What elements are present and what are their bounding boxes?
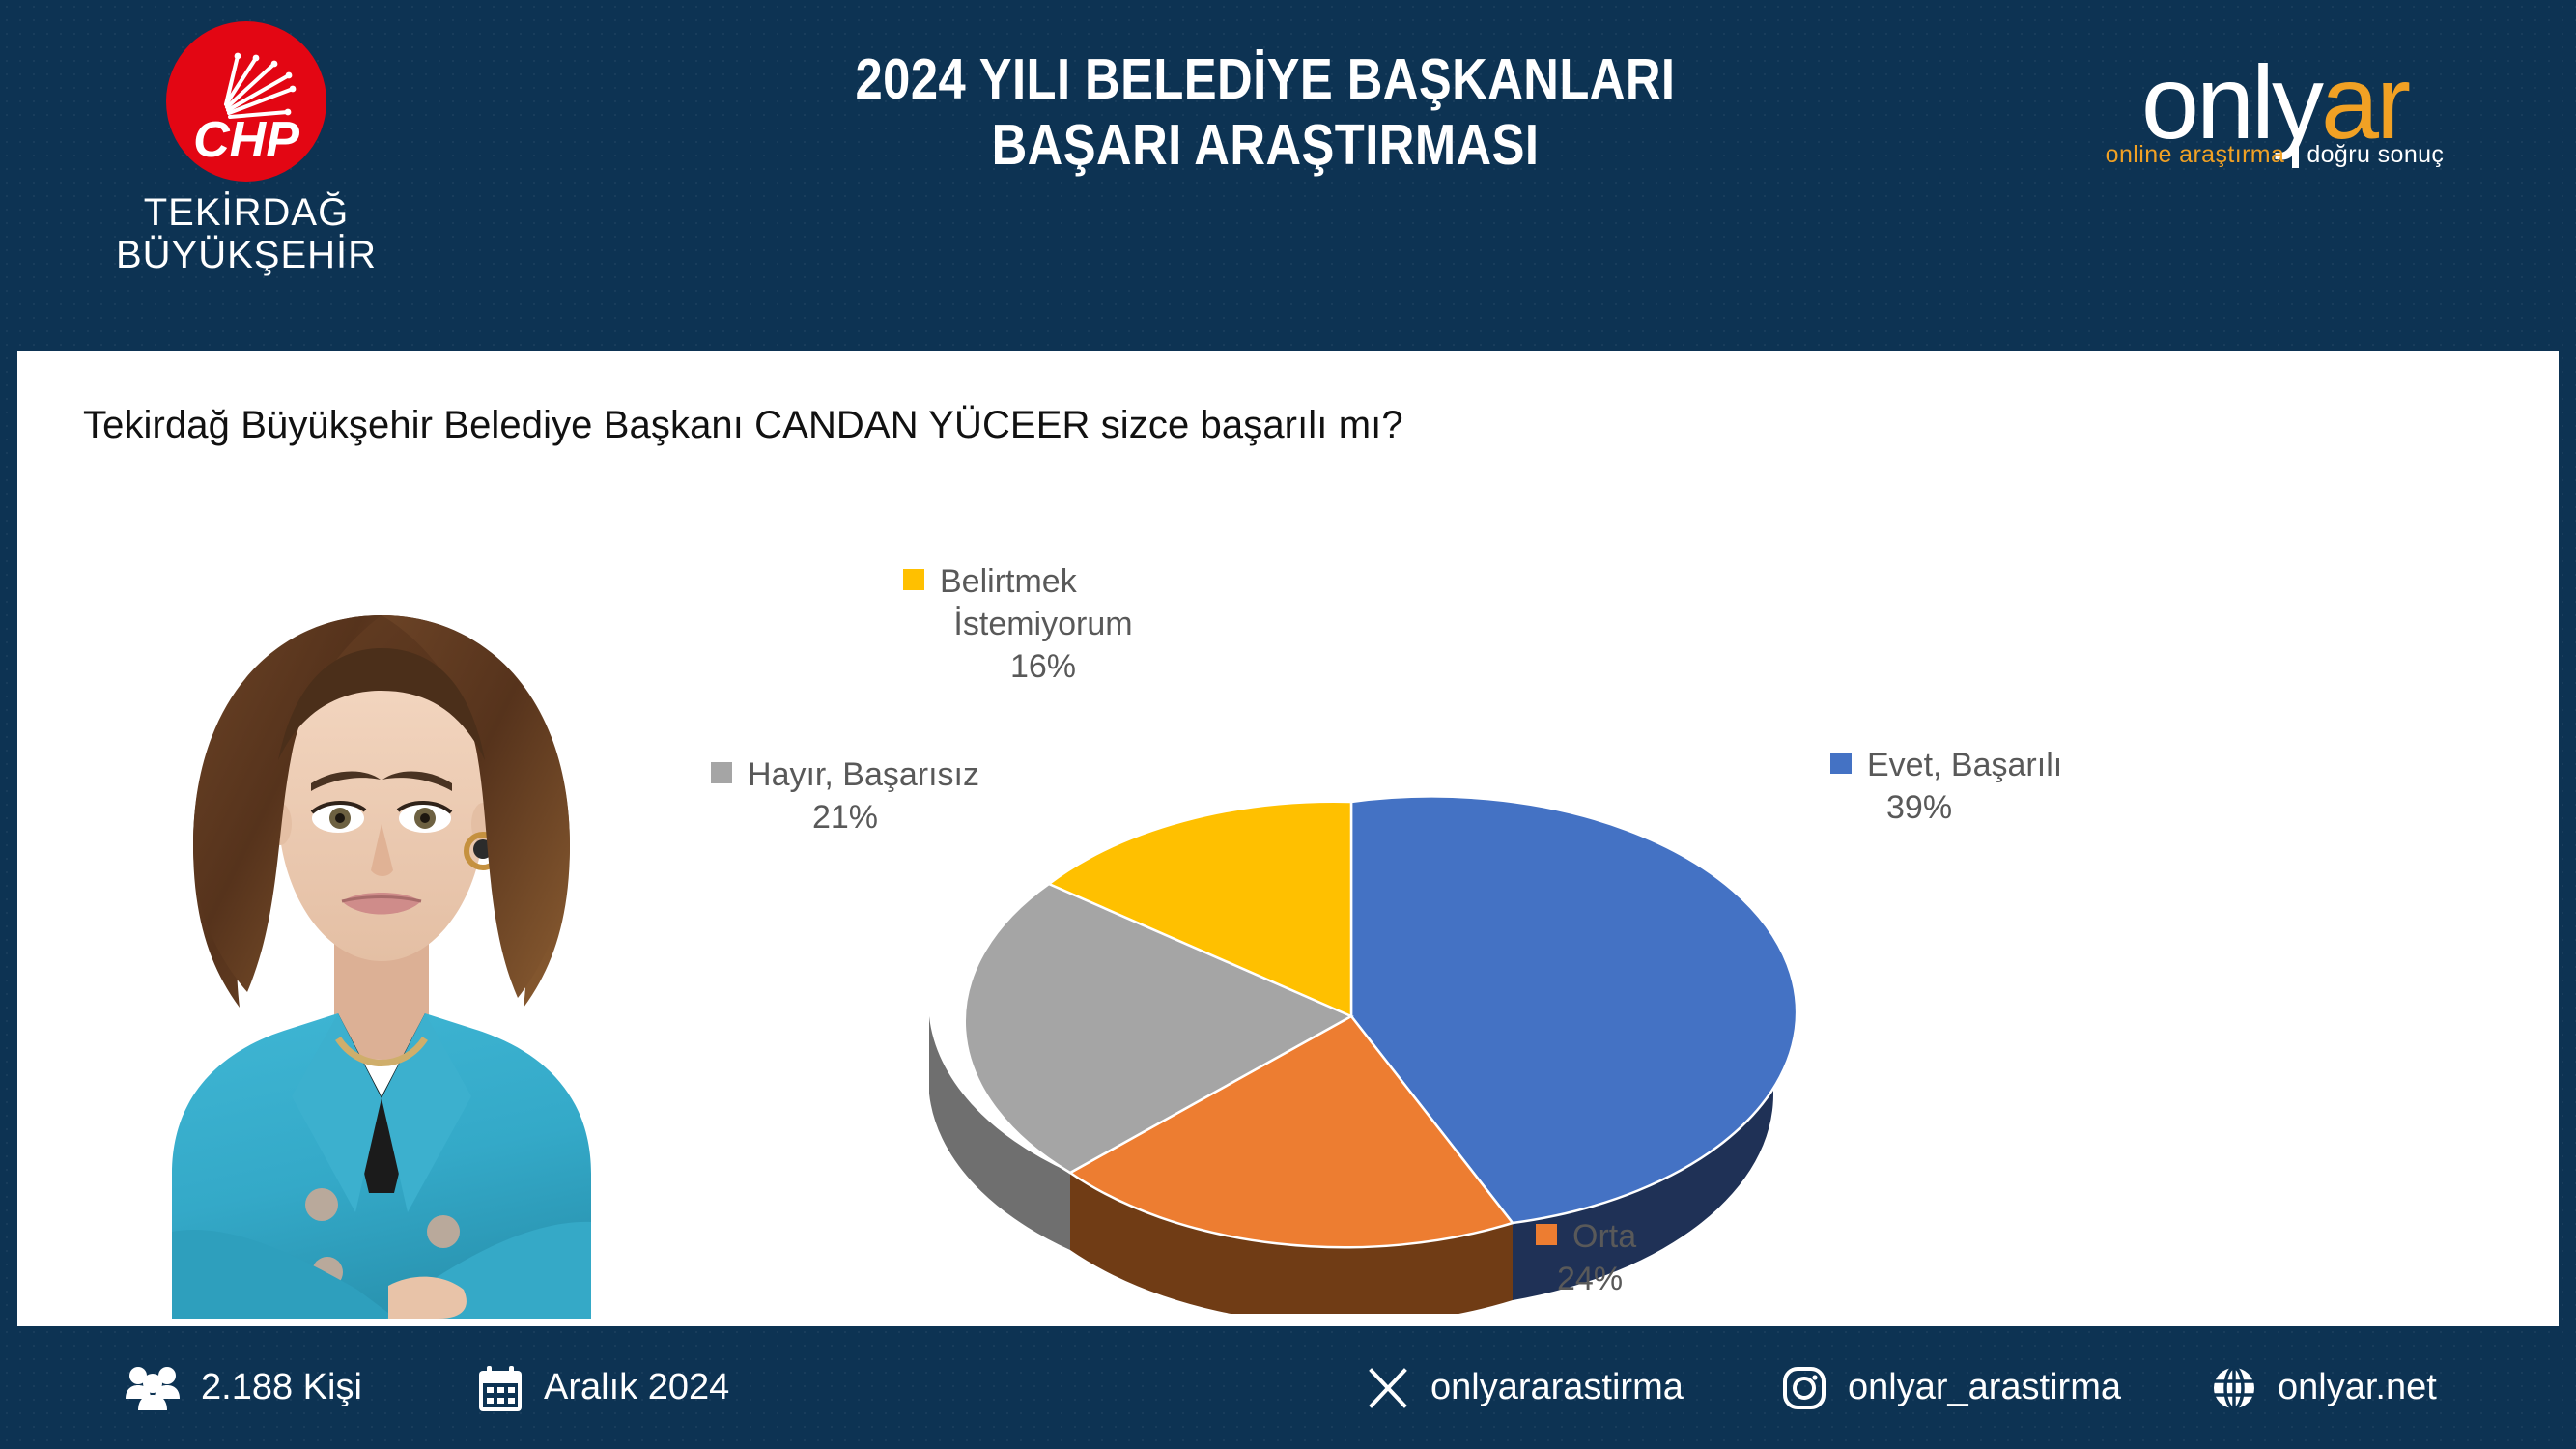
pie-label-belirtmek-line2: İstemiyorum (884, 603, 1203, 645)
footer-date-text: Aralık 2024 (544, 1367, 729, 1408)
survey-question: Tekirdağ Büyükşehir Belediye Başkanı CAN… (83, 404, 1403, 447)
footer-sample-text: 2.188 Kişi (201, 1367, 362, 1408)
footer-date: Aralık 2024 (478, 1364, 729, 1412)
title-line-1: 2024 YILI BELEDİYE BAŞKANLARI (808, 46, 1722, 112)
pie-label-belirtmek: Belirtmek İstemiyorum 16% (884, 560, 1203, 688)
swatch-evet-icon (1830, 753, 1852, 774)
pie-label-hayir: Hayır, Başarısız 21% (676, 753, 1014, 838)
swatch-hayir-icon (711, 762, 732, 783)
brand-tagline-left: online araştırma (2106, 141, 2285, 169)
brand-tagline-divider (2292, 143, 2299, 168)
pie-label-hayir-text: Hayır, Başarısız (748, 756, 979, 793)
swatch-belirtmek-icon (903, 569, 924, 590)
swatch-orta-icon (1536, 1224, 1557, 1245)
people-icon (126, 1366, 180, 1410)
pie-value-evet: 39% (1830, 786, 2149, 829)
footer-sample-size: 2.188 Kişi (126, 1366, 362, 1410)
page-title: 2024 YILI BELEDİYE BAŞKANLARI BAŞARI ARA… (734, 46, 1797, 178)
brand-tagline-right: doğru sonuç (2307, 141, 2444, 169)
chp-logo-text: CHP (193, 112, 299, 168)
footer-bar: 2.188 Kişi Aralık 2024 onlyararastirma (0, 1326, 2576, 1449)
x-twitter-icon[interactable] (1367, 1367, 1409, 1409)
footer-instagram-account[interactable]: onlyar_arastirma (1782, 1366, 2121, 1410)
pie-label-evet: Evet, Başarılı 39% (1830, 744, 2149, 829)
header-bar: CHP TEKİRDAĞ BÜYÜKŞEHİR 2024 YILI BELEDİ… (0, 0, 2576, 351)
party-city-line1: TEKİRDAĞ (92, 191, 401, 234)
footer-x-handle[interactable]: onlyararastirma (1430, 1367, 1684, 1408)
pie-value-orta: 24% (1536, 1258, 1826, 1300)
pie-label-orta-text: Orta (1572, 1218, 1636, 1255)
instagram-icon[interactable] (1782, 1366, 1826, 1410)
chp-logo-icon: CHP (166, 21, 326, 182)
title-line-2: BAŞARI ARAŞTIRMASI (808, 112, 1722, 178)
footer-x-account[interactable]: onlyararastirma (1367, 1367, 1684, 1409)
pie-label-belirtmek-line1: Belirtmek (940, 563, 1077, 600)
pie-label-orta: Orta 24% (1536, 1215, 1826, 1300)
pie-value-belirtmek: 16% (884, 645, 1203, 688)
footer-instagram-handle[interactable]: onlyar_arastirma (1848, 1367, 2121, 1408)
brand-logo: onlyar online araştırma doğru sonuç (2048, 50, 2502, 169)
party-city-line2: BÜYÜKŞEHİR (92, 234, 401, 276)
footer-website[interactable]: onlyar.net (2212, 1366, 2437, 1410)
pie-value-hayir: 21% (676, 796, 1014, 838)
pie-label-evet-text: Evet, Başarılı (1867, 747, 2062, 783)
globe-icon[interactable] (2212, 1366, 2256, 1410)
pie-chart (869, 638, 1951, 1314)
footer-website-text[interactable]: onlyar.net (2278, 1367, 2437, 1408)
calendar-icon (478, 1364, 523, 1412)
party-logo-block: CHP TEKİRDAĞ BÜYÜKŞEHİR (92, 21, 401, 276)
